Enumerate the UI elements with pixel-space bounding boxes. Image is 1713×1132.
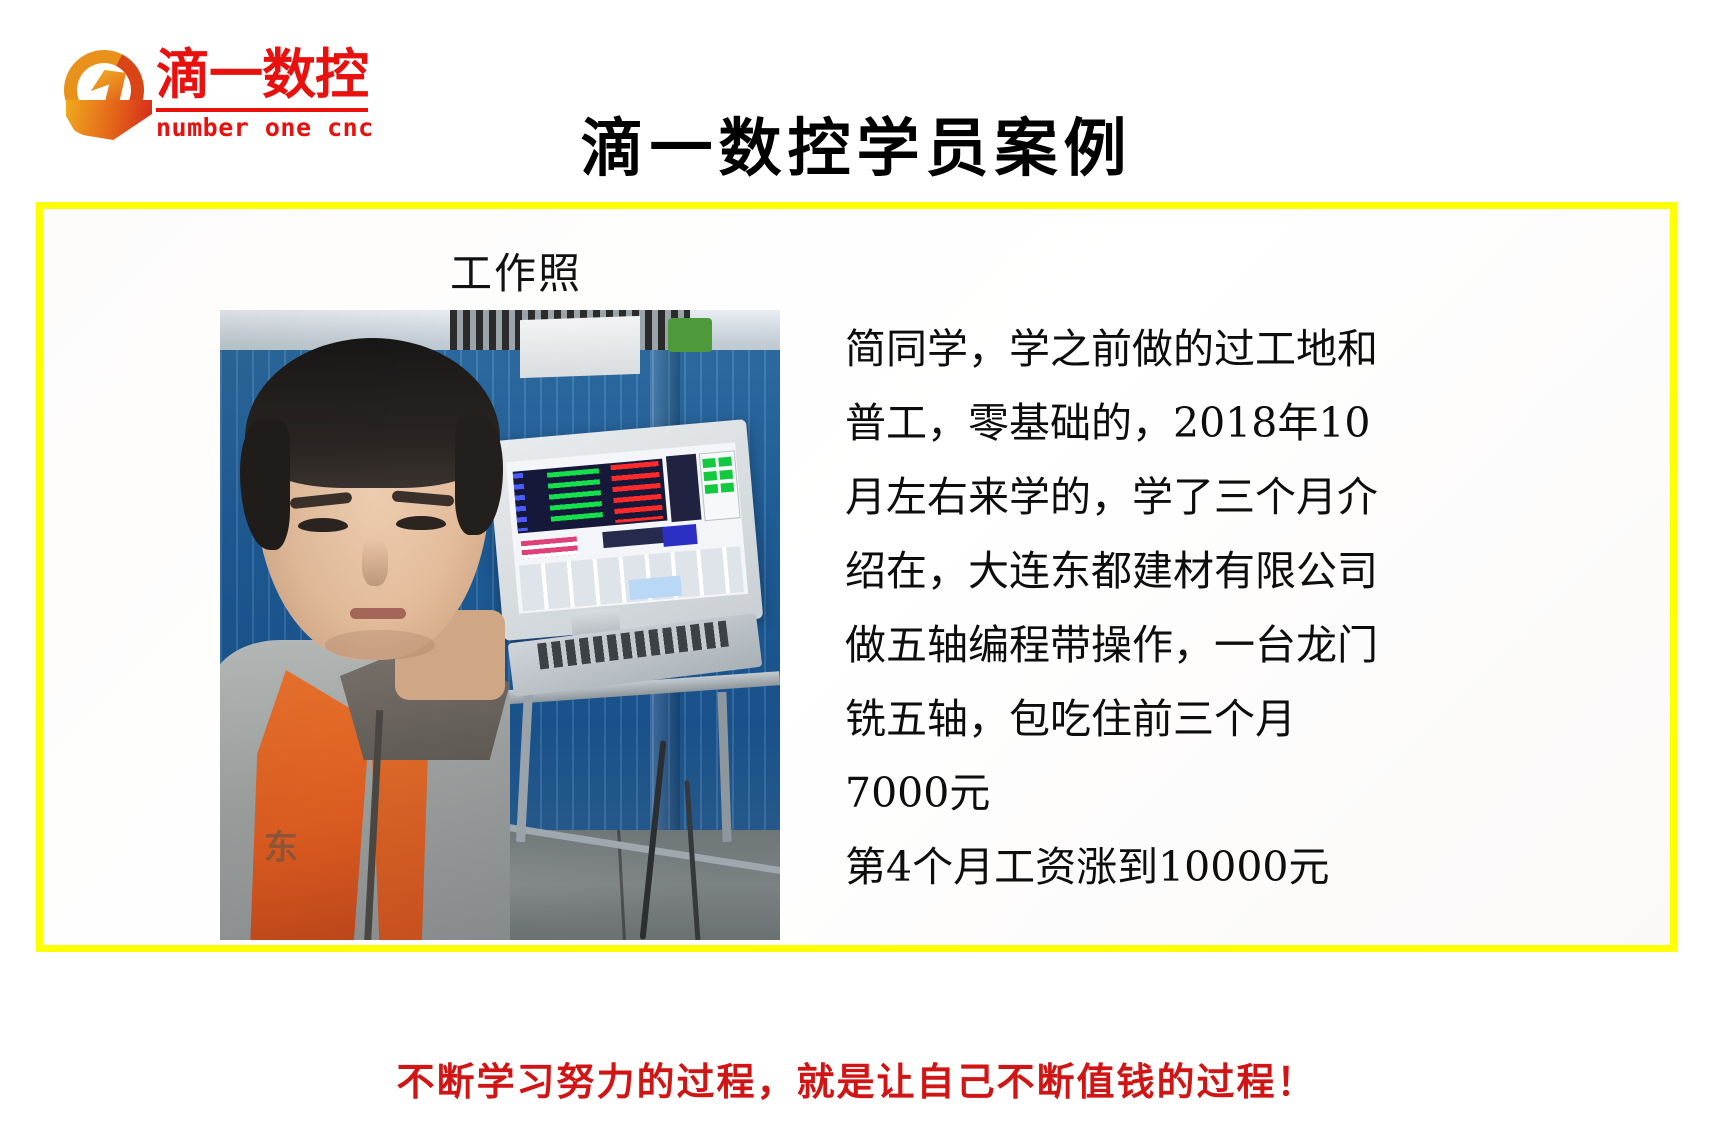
photo-white-panel [520, 316, 640, 378]
photo-person-nose [362, 538, 388, 586]
testimonial-line: 第4个月工资涨到10000元 [845, 830, 1535, 904]
photo-uniform-character: 东 [264, 830, 334, 900]
photo-screen-chip-5 [705, 484, 719, 494]
page-title: 滴一数控学员案例 [0, 108, 1713, 188]
testimonial-line: 月左右来学的，学了三个月介 [845, 460, 1535, 534]
photo-screen-status-bar [602, 527, 665, 548]
photo-green-marker [668, 318, 712, 352]
testimonial-line: 普工，零基础的，2018年10 [845, 386, 1535, 460]
photo-screen-pink-bars [521, 536, 578, 559]
photo-person-mouth [350, 608, 406, 619]
testimonial-text: 简同学，学之前做的过工地和 普工，零基础的，2018年10 月左右来学的，学了三… [845, 312, 1535, 904]
photo-person-eye-right [396, 516, 446, 530]
work-photo-label: 工作照 [450, 248, 582, 300]
testimonial-line: 绍在，大连东都建材有限公司 [845, 534, 1535, 608]
photo-cnc-screen [506, 442, 748, 613]
logo-chinese-name: 滴一数控 [156, 44, 368, 106]
slide-root: 滴一数控 number one cnc 滴一数控学员案例 工作照 [0, 0, 1713, 1132]
work-photo: 东 [220, 310, 780, 940]
testimonial-line: 做五轴编程带操作，一台龙门 [845, 608, 1535, 682]
photo-person-chin [325, 630, 435, 660]
photo-screen-red-values [610, 461, 663, 523]
photo-screen-chip-6 [720, 483, 734, 493]
photo-screen-chip-4 [719, 470, 733, 480]
footer-slogan: 不断学习努力的过程，就是让自己不断值钱的过程！ [0, 1055, 1713, 1109]
photo-screen-chip-1 [702, 458, 716, 468]
photo-screen-blue-button [662, 524, 698, 547]
testimonial-line: 简同学，学之前做的过工地和 [845, 312, 1535, 386]
photo-person-eye-left [298, 518, 348, 532]
testimonial-line: 7000元 [845, 756, 1535, 830]
photo-screen-chip-2 [718, 457, 732, 467]
photo-screen-side-panel [666, 454, 702, 522]
testimonial-line: 铣五轴，包吃住前三个月 [845, 682, 1535, 756]
photo-screen-chip-3 [703, 471, 717, 481]
photo-screen-green-values [547, 468, 604, 526]
